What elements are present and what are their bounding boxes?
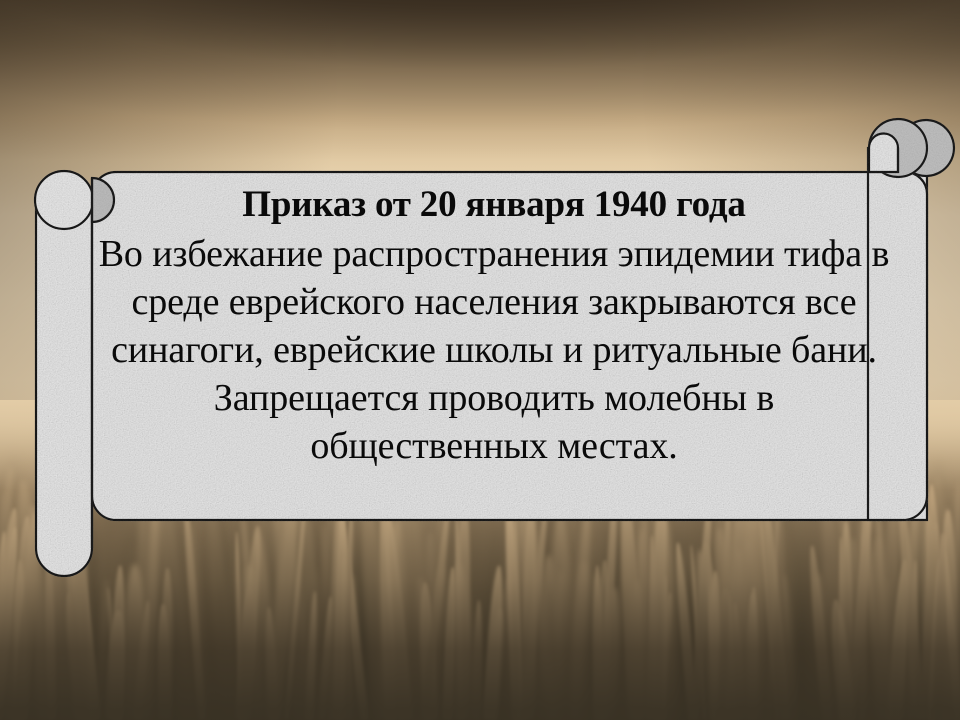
order-title: Приказ от 20 января 1940 года: [96, 182, 892, 228]
banner-text-block: Приказ от 20 января 1940 года Во избежан…: [96, 182, 892, 470]
slide: Приказ от 20 января 1940 года Во избежан…: [0, 0, 960, 720]
grass-blade: [511, 517, 519, 720]
grass-blade: [72, 480, 87, 720]
order-body-text: Во избежание распространения эпидемии ти…: [96, 230, 892, 470]
